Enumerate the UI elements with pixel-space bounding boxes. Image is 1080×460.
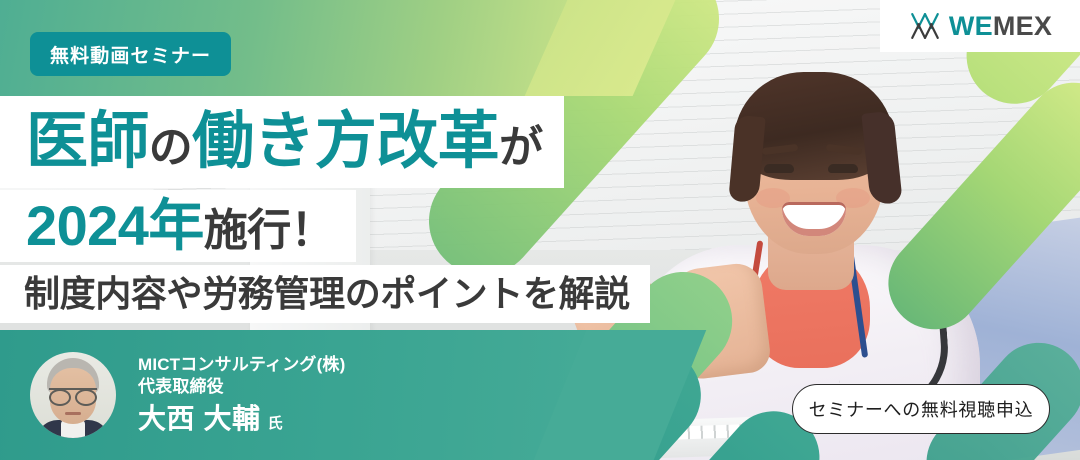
wemex-logo[interactable]: WEMEX — [880, 0, 1080, 52]
avatar-glasses — [49, 388, 97, 403]
eye-left — [764, 164, 794, 173]
speaker-organization: MICTコンサルティング(株) — [138, 354, 345, 375]
headline-line-3-text: 制度内容や労務管理のポイントを解説 — [24, 276, 630, 312]
speaker-title: 代表取締役 — [138, 376, 345, 397]
seminar-apply-button-label: セミナーへの無料視聴申込 — [809, 396, 1034, 422]
headline-1d: が — [499, 123, 542, 172]
seminar-banner: 無料動画セミナー WEMEX 医師の働き方改革が 2024年施行！ — [0, 0, 1080, 460]
seminar-apply-button[interactable]: セミナーへの無料視聴申込 — [792, 384, 1050, 434]
headline-line-3: 制度内容や労務管理のポイントを解説 — [0, 265, 650, 323]
headline-line-1-text: 医師の働き方改革が — [26, 111, 542, 173]
eye-right — [828, 164, 858, 173]
headline-1b: の — [149, 123, 192, 172]
headline-line-2-text: 2024年施行！ — [26, 198, 334, 254]
speaker-name: 大西 大輔 — [138, 403, 261, 434]
headline-2b: 施行！ — [204, 206, 334, 255]
badge-label: 無料動画セミナー — [50, 41, 211, 68]
headline-1a: 医師 — [26, 107, 149, 176]
avatar-mouth — [65, 412, 81, 415]
speaker-text-block: MICTコンサルティング(株) 代表取締役 大西 大輔氏 — [138, 354, 345, 436]
logo-text-mex: MEX — [993, 11, 1052, 41]
logo-text-we: WE — [949, 11, 993, 41]
speaker-name-row: 大西 大輔氏 — [138, 401, 345, 436]
wemex-logo-text: WEMEX — [949, 13, 1052, 40]
wemex-logo-mark — [908, 9, 942, 43]
headline-2a: 2024年 — [26, 194, 204, 257]
speaker-info: MICTコンサルティング(株) 代表取締役 大西 大輔氏 — [0, 330, 620, 460]
headline-line-1: 医師の働き方改革が — [0, 96, 564, 188]
speaker-name-suffix: 氏 — [268, 415, 284, 432]
free-video-seminar-badge: 無料動画セミナー — [30, 32, 231, 76]
headline-1c: 働き方改革 — [192, 107, 499, 176]
headline-line-2: 2024年施行！ — [0, 190, 356, 262]
speaker-avatar — [30, 352, 116, 438]
